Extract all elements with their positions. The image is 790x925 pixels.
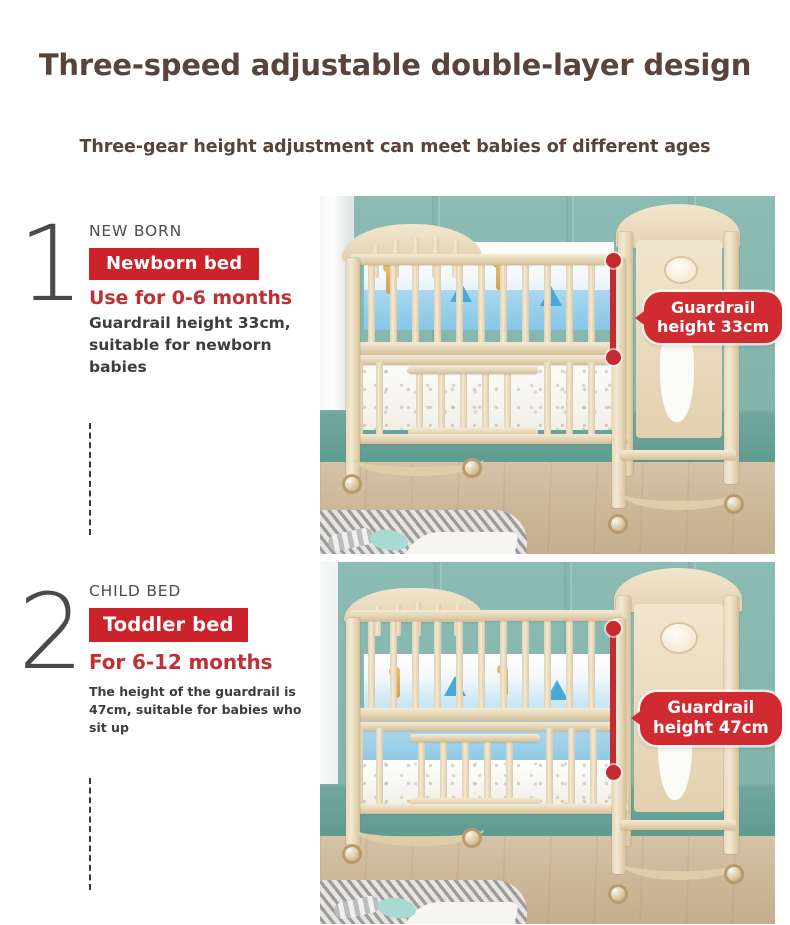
section-2-kicker: CHILD BED: [89, 582, 314, 601]
lower-slat: [590, 728, 597, 806]
guardrail-slat: [368, 262, 375, 346]
drop-gate-rail: [408, 366, 538, 374]
section-2-connector-line: [89, 778, 91, 890]
guardrail-bottom-rail: [350, 708, 624, 721]
section-2-badge: Toddler bed: [89, 608, 248, 642]
crib-cross-rail: [620, 450, 736, 460]
guardrail-slat: [368, 618, 375, 712]
lower-slat: [504, 368, 511, 436]
lower-slat: [566, 362, 573, 438]
lower-frame-rail: [348, 722, 624, 731]
guardrail-slat: [522, 262, 529, 346]
lower-slat: [376, 362, 383, 436]
guardrail-slat: [478, 262, 485, 346]
guardrail-slat: [522, 618, 529, 712]
crib-post: [724, 232, 739, 484]
guardrail-slat: [456, 618, 463, 712]
guardrail-slat: [478, 618, 485, 712]
callout-1-line-1: Guardrail: [657, 298, 769, 317]
crib-wheel: [724, 864, 744, 884]
section-number-2: 2: [18, 590, 84, 675]
lower-slat: [506, 736, 513, 806]
lower-slat: [546, 728, 553, 806]
guardrail-slat: [434, 618, 441, 712]
lower-slat: [460, 368, 467, 436]
guardrail-slat: [434, 262, 441, 346]
measure-endpoint-top: [606, 621, 621, 636]
crib-wheel: [462, 458, 482, 478]
section-1-kicker: NEW BORN: [89, 222, 314, 241]
guardrail-top-rail: [350, 610, 622, 621]
guardrail-slat: [390, 262, 397, 346]
guardrail-slat: [544, 262, 551, 346]
measure-bar: [610, 260, 616, 358]
page-subtitle: Three-gear height adjustment can meet ba…: [0, 137, 790, 157]
guardrail-slat: [390, 618, 397, 712]
bedding-blue-area: [364, 290, 614, 330]
measure-endpoint-top: [606, 253, 621, 268]
callout-guardrail-33cm: Guardrail height 33cm: [644, 292, 782, 343]
guardrail-slat: [566, 262, 573, 346]
section-1-badge: Newborn bed: [89, 248, 259, 280]
drop-gate-rail: [410, 734, 540, 742]
lower-slat: [376, 728, 383, 806]
guardrail-slat: [588, 262, 595, 346]
lower-slat: [416, 368, 423, 436]
section-1-connector-line: [89, 423, 91, 535]
measure-bar: [610, 628, 616, 773]
lower-frame-rail: [348, 356, 624, 365]
crib-cross-rail: [620, 820, 736, 830]
crib-wheel: [342, 844, 362, 864]
callout-1-line-2: height 33cm: [657, 317, 769, 336]
guardrail-slat: [456, 262, 463, 346]
guardrail-slat: [412, 262, 419, 346]
lower-slat: [440, 736, 447, 806]
section-2-text: CHILD BED Toddler bed For 6-12 months Th…: [89, 582, 314, 737]
lower-slat: [588, 362, 595, 438]
measure-endpoint-bottom: [606, 350, 621, 365]
section-1-text: NEW BORN Newborn bed Use for 0-6 months …: [89, 222, 314, 378]
section-1-description: Guardrail height 33cm, suitable for newb…: [89, 312, 314, 378]
guardrail-slat: [500, 618, 507, 712]
section-2-description: The height of the guardrail is 47cm, sui…: [89, 683, 314, 737]
guardrail-slat: [500, 262, 507, 346]
lower-slat: [438, 368, 445, 436]
page-title: Three-speed adjustable double-layer desi…: [0, 48, 790, 82]
callout-guardrail-47cm: Guardrail height 47cm: [640, 692, 782, 745]
crib-logo-badge: [662, 624, 696, 652]
lower-slat: [484, 736, 491, 806]
guardrail-bottom-rail: [350, 342, 624, 355]
crib-wheel: [342, 474, 362, 494]
guardrail-slat: [544, 618, 551, 712]
crib-wheel: [608, 884, 628, 904]
crib-rocker: [620, 844, 740, 880]
measure-endpoint-bottom: [606, 765, 621, 780]
crib-wheel: [608, 514, 628, 534]
crib-rocker: [620, 474, 740, 510]
infographic-page: Three-speed adjustable double-layer desi…: [0, 0, 790, 925]
crib-wheel: [724, 494, 744, 514]
crib-bedding: [364, 654, 614, 712]
newborn-bed-photo: [320, 196, 775, 554]
lower-slat: [482, 368, 489, 436]
lower-slat: [462, 736, 469, 806]
guardrail-slat: [588, 618, 595, 712]
guardrail-slat: [412, 618, 419, 712]
guardrail-top-rail: [350, 254, 622, 265]
section-2-age-range: For 6-12 months: [89, 650, 314, 674]
crib-logo-badge: [666, 258, 696, 282]
callout-2-line-2: height 47cm: [653, 718, 769, 738]
lower-slat: [568, 728, 575, 806]
lower-slat: [418, 736, 425, 806]
lower-slat: [544, 362, 551, 438]
section-number-1: 1: [18, 222, 84, 307]
section-1-age-range: Use for 0-6 months: [89, 287, 314, 309]
guardrail-slat: [566, 618, 573, 712]
callout-2-line-1: Guardrail: [653, 698, 769, 718]
crib-wheel: [462, 828, 482, 848]
